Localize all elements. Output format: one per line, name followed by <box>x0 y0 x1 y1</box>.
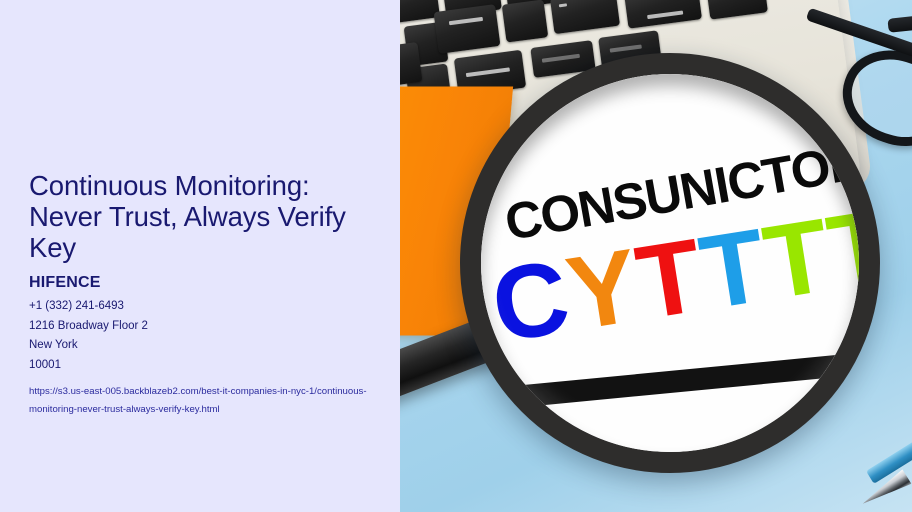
company-street-address: 1216 Broadway Floor 2 <box>29 317 379 337</box>
keyboard-key <box>434 4 501 54</box>
article-text-block: Continuous Monitoring: Never Trust, Alwa… <box>29 170 379 419</box>
company-city: New York <box>29 336 379 356</box>
company-name: HIFENCE <box>29 272 379 293</box>
keyboard-key <box>502 0 549 43</box>
page-title: Continuous Monitoring: Never Trust, Alwa… <box>29 170 379 263</box>
article-info-panel: Continuous Monitoring: Never Trust, Alwa… <box>0 0 400 512</box>
magnifier-lens-ring: CONSUNICTON CYTTTT <box>460 53 880 473</box>
company-zip: 10001 <box>29 356 379 376</box>
article-url[interactable]: https://s3.us-east-005.backblazeb2.com/b… <box>29 383 374 419</box>
page-root: Continuous Monitoring: Never Trust, Alwa… <box>0 0 912 512</box>
magnifier-lens-content: CONSUNICTON CYTTTT <box>481 74 859 452</box>
company-phone: +1 (332) 241-6493 <box>29 297 379 317</box>
article-photo: CONSUNICTON CYTTTT <box>400 0 912 512</box>
